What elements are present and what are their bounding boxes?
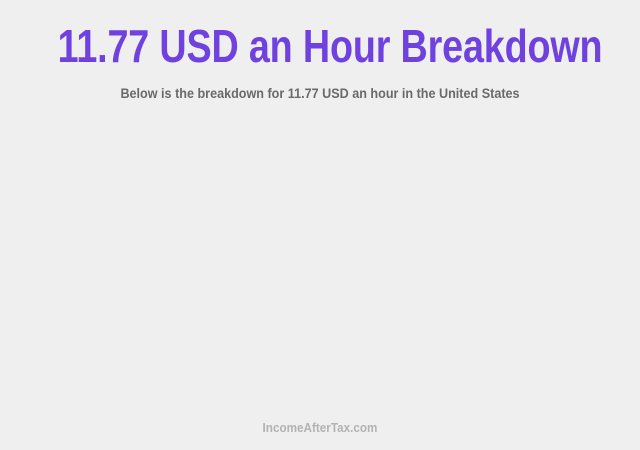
page-root: 11.77 USD an Hour Breakdown Below is the…: [0, 0, 640, 450]
site-footer-label: IncomeAfterTax.com: [32, 420, 608, 436]
page-title: 11.77 USD an Hour Breakdown: [58, 21, 583, 71]
page-subtitle: Below is the breakdown for 11.77 USD an …: [32, 84, 608, 102]
chart-content-area: [0, 118, 640, 410]
